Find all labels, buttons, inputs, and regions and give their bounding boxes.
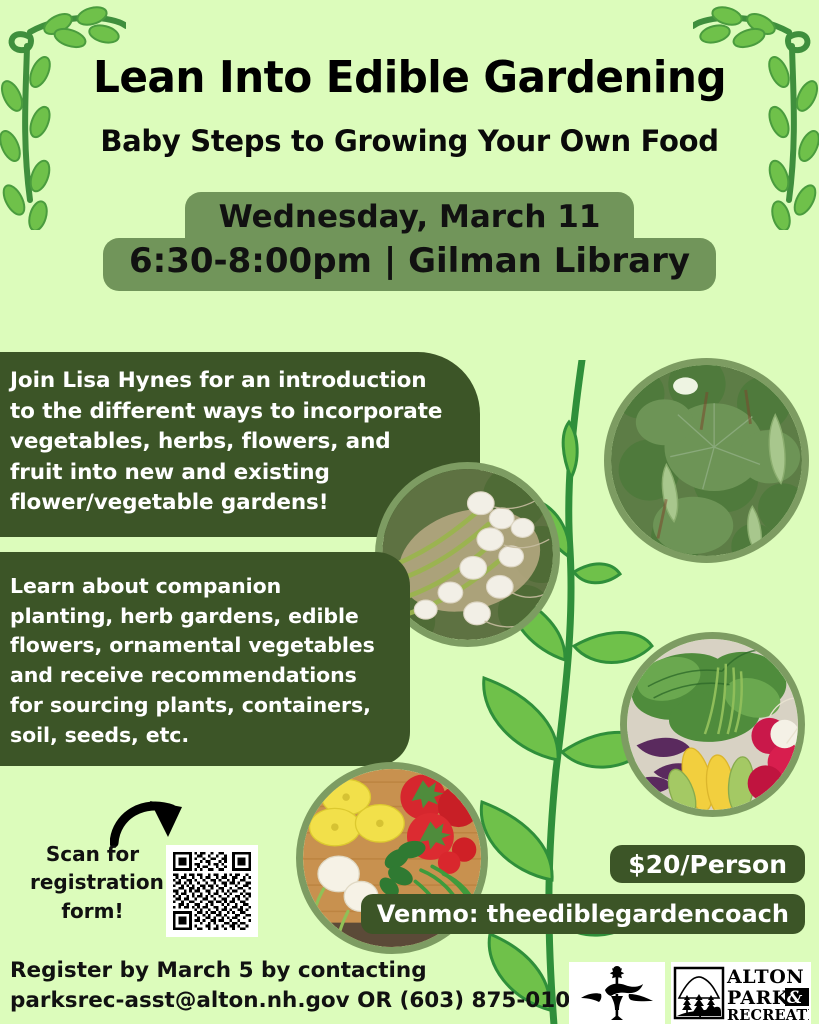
logo-group: ALTON PARKS RECREATION & xyxy=(569,962,811,1024)
scan-instruction-label: Scan for registration form! xyxy=(30,840,155,925)
event-banner: Wednesday, March 11 6:30-8:00pm | Gilman… xyxy=(0,192,819,291)
svg-text:ALTON: ALTON xyxy=(726,966,804,988)
alton-weathervane-logo xyxy=(569,962,665,1024)
description-block-2: Learn about companion planting, herb gar… xyxy=(0,552,410,766)
event-date: Wednesday, March 11 xyxy=(185,192,635,240)
venmo-badge: Venmo: theediblegardencoach xyxy=(361,894,805,934)
qr-code-icon[interactable] xyxy=(166,845,258,937)
poster-title: Lean Into Edible Gardening xyxy=(16,52,802,103)
pea-pods-photo xyxy=(604,358,809,563)
price-badge: $20/Person xyxy=(610,845,805,883)
poster-subtitle: Baby Steps to Growing Your Own Food xyxy=(0,124,819,158)
mixed-vegetables-photo xyxy=(620,632,805,817)
poster-canvas: Lean Into Edible Gardening Baby Steps to… xyxy=(0,0,819,1024)
footer-line-1: Register by March 5 by contacting xyxy=(10,956,585,986)
svg-text:RECREATION: RECREATION xyxy=(727,1007,809,1022)
registration-footer: Register by March 5 by contacting parksr… xyxy=(10,956,585,1015)
alton-parks-recreation-logo: ALTON PARKS RECREATION & xyxy=(671,962,811,1024)
svg-text:&: & xyxy=(787,988,803,1008)
event-time-location: 6:30-8:00pm | Gilman Library xyxy=(103,238,716,291)
footer-line-2: parksrec-asst@alton.nh.gov OR (603) 875-… xyxy=(10,986,585,1016)
